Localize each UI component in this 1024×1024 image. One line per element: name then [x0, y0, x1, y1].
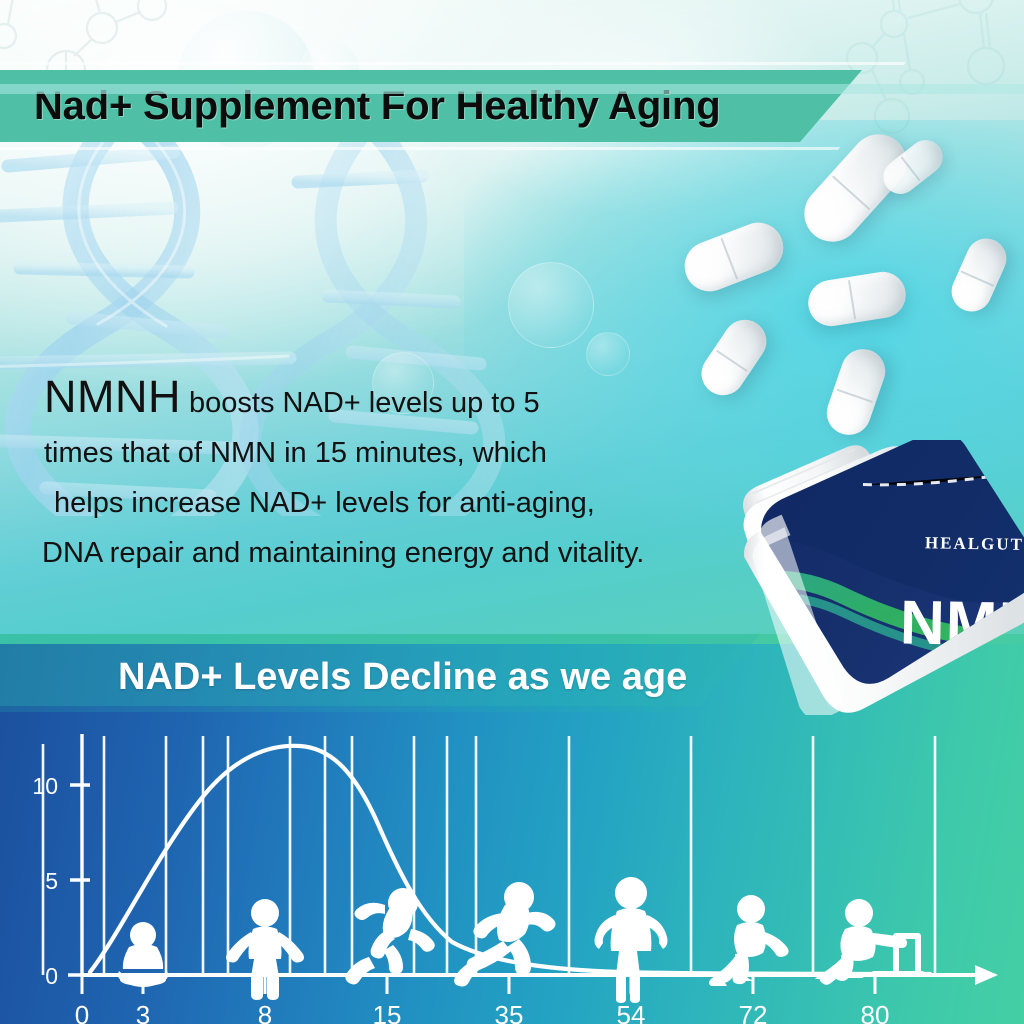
svg-text:54: 54	[617, 1000, 646, 1024]
capsule-icon	[945, 232, 1012, 318]
svg-text:3: 3	[136, 1000, 150, 1024]
svg-text:80: 80	[861, 1000, 890, 1024]
chart-x-ticks	[82, 975, 875, 994]
svg-text:8: 8	[258, 1000, 272, 1024]
capsule-icon	[677, 215, 790, 298]
jumping-figure-icon	[345, 888, 434, 984]
title-underline	[0, 84, 1024, 94]
svg-text:15: 15	[373, 1000, 402, 1024]
description-line-1: boosts NAD+ levels up to 5	[189, 387, 540, 419]
page-title: Nad+ Supplement For Healthy Aging	[34, 72, 824, 140]
description-line-2: times that of NMN in 15 minutes, which	[0, 428, 760, 478]
running-figure-icon	[454, 882, 555, 987]
chart-stage-figures	[118, 877, 925, 1003]
chart-x-axis-arrow	[975, 965, 998, 985]
infographic-canvas: Nad+ Supplement For Healthy Aging NMNH b…	[0, 0, 1024, 1024]
svg-text:10: 10	[32, 773, 58, 799]
nad-decline-chart: 0 5 10 0 3 8 15 35 54 72 80	[0, 634, 1024, 1024]
product-description: NMNH boosts NAD+ levels up to 5 times th…	[0, 372, 760, 578]
chart-x-tick-labels: 0 3 8 15 35 54 72 80	[75, 1000, 890, 1024]
capsule-icon	[821, 343, 891, 441]
description-line-3: helps increase NAD+ levels for anti-agin…	[0, 478, 760, 528]
sitting-baby-figure-icon	[118, 922, 168, 987]
svg-text:0: 0	[45, 963, 58, 989]
title-banner: Nad+ Supplement For Healthy Aging	[0, 60, 1024, 152]
brand-name: NMNH	[44, 371, 181, 422]
hero-section: Nad+ Supplement For Healthy Aging NMNH b…	[0, 0, 1024, 634]
decorative-bubble	[586, 332, 630, 376]
svg-text:72: 72	[739, 1000, 768, 1024]
chart-y-tick-labels: 0 5 10	[32, 773, 58, 989]
decorative-bubble	[508, 262, 594, 348]
chart-y-ticks	[68, 785, 92, 975]
svg-text:35: 35	[495, 1000, 524, 1024]
capsule-icon	[805, 269, 909, 330]
svg-text:0: 0	[75, 1000, 89, 1024]
description-line-4: DNA repair and maintaining energy and vi…	[0, 528, 760, 578]
svg-text:5: 5	[45, 868, 58, 894]
standing-adult-figure-icon	[595, 877, 668, 1003]
